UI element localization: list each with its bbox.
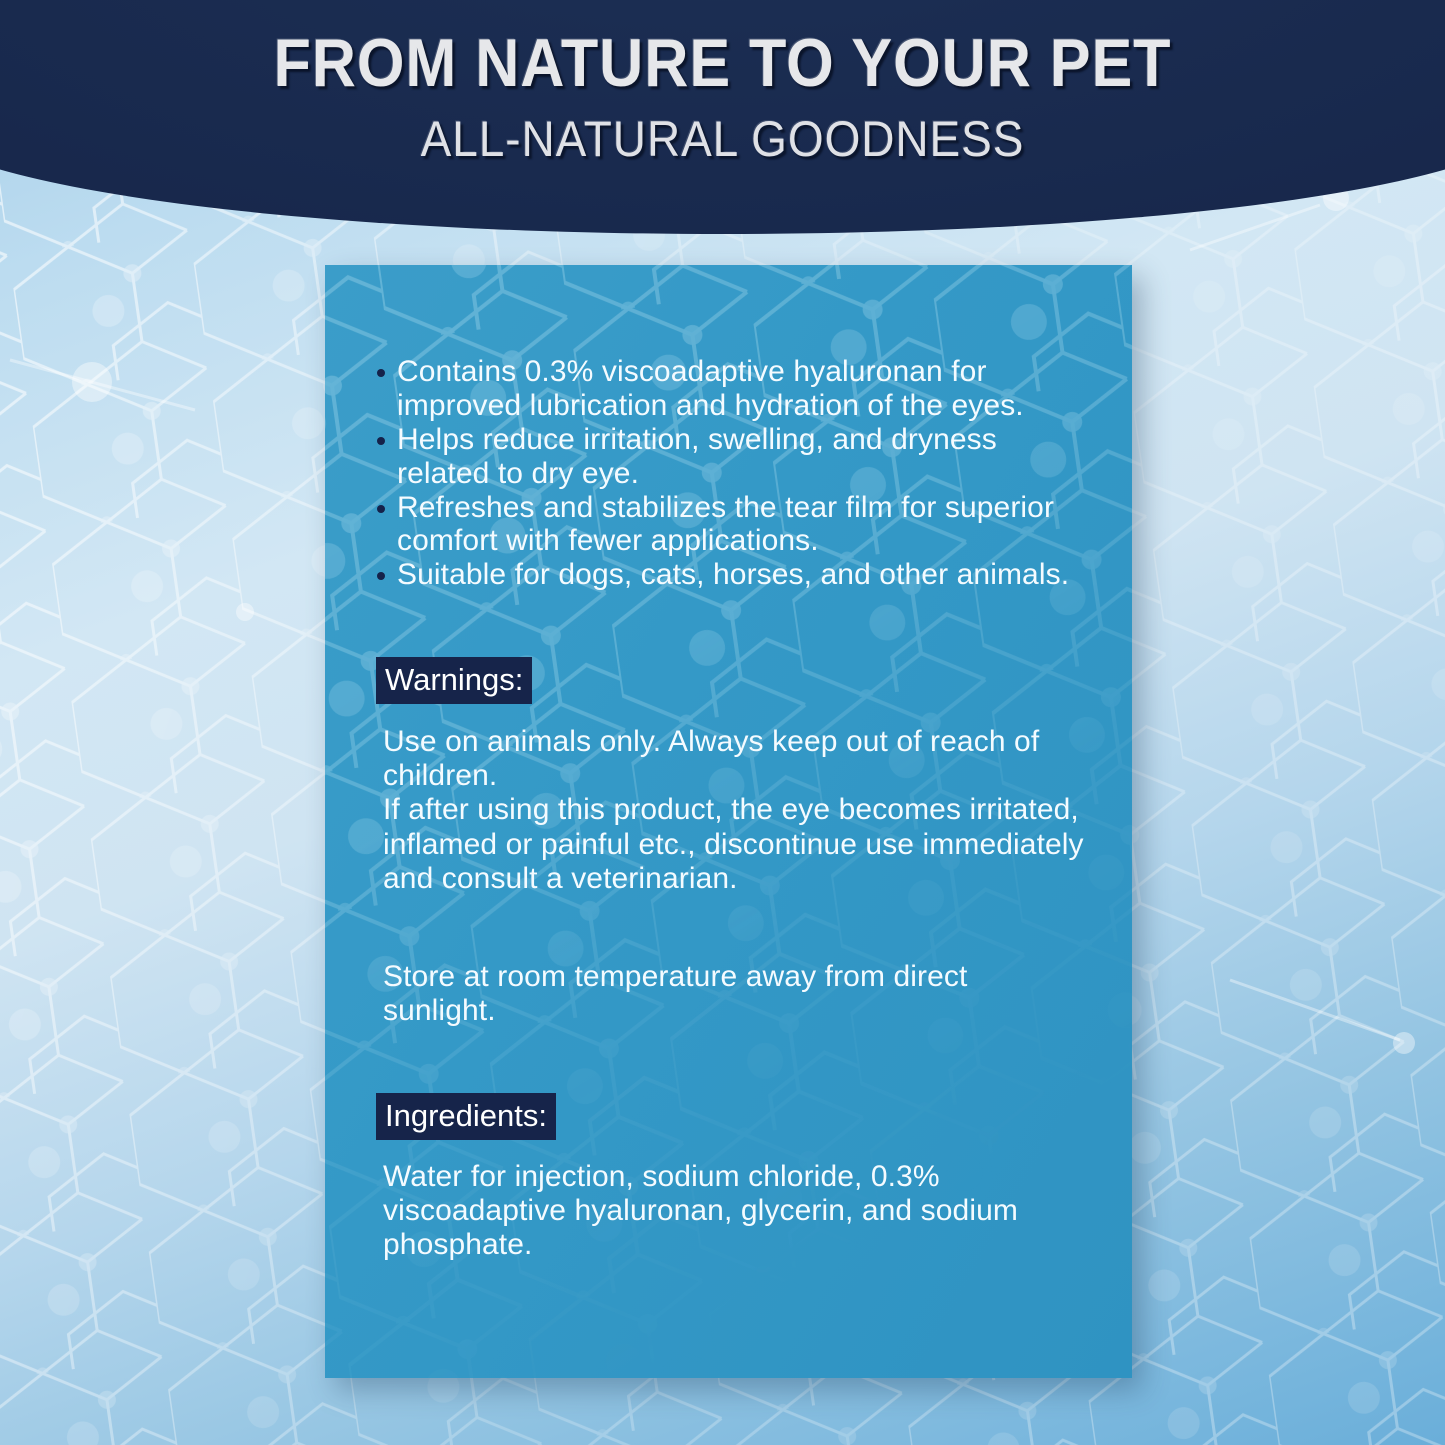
page-subtitle: ALL-NATURAL GOODNESS (58, 99, 1387, 166)
header-titles: FROM NATURE TO YOUR PET ALL-NATURAL GOOD… (0, 0, 1445, 166)
ingredients-heading: Ingredients: (376, 1093, 556, 1140)
page-title: FROM NATURE TO YOUR PET (72, 0, 1373, 99)
storage-instructions-text: Store at room temperature away from dire… (383, 960, 1088, 1028)
warnings-body-text: Use on animals only. Always keep out of … (383, 725, 1088, 896)
product-label-page: FROM NATURE TO YOUR PET ALL-NATURAL GOOD… (0, 0, 1445, 1445)
list-item: Contains 0.3% viscoadaptive hyaluronan f… (365, 355, 1095, 423)
warnings-heading: Warnings: (376, 657, 532, 704)
feature-bullet-list: Contains 0.3% viscoadaptive hyaluronan f… (365, 355, 1095, 592)
list-item: Helps reduce irritation, swelling, and d… (365, 423, 1095, 491)
list-item: Suitable for dogs, cats, horses, and oth… (365, 558, 1095, 592)
ingredients-body-text: Water for injection, sodium chloride, 0.… (383, 1160, 1088, 1263)
list-item: Refreshes and stabilizes the tear film f… (365, 491, 1095, 559)
product-info-card: Contains 0.3% viscoadaptive hyaluronan f… (325, 265, 1132, 1378)
